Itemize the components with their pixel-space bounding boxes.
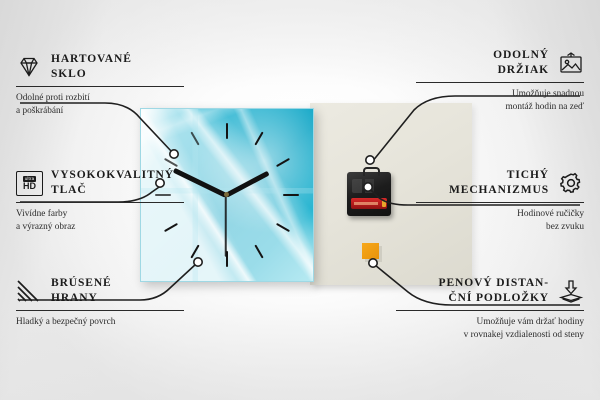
- callout-title-line2: TLAČ: [51, 183, 174, 198]
- callout-title-line1: ODOLNÝ: [493, 48, 549, 63]
- callout-description: Hladký a bezpečný povrch: [16, 316, 184, 329]
- callout-desc-line2: montáž hodin na zeď: [416, 101, 584, 114]
- clock-center-pin: [224, 192, 229, 197]
- callout-title-line2: DRŽIAK: [493, 63, 549, 78]
- callout-header: HARTOVANÉ SKLO: [16, 52, 184, 82]
- callout-description: Umožňuje snadnou montáž hodin na zeď: [416, 88, 584, 113]
- callout-header: ODOLNÝ DRŽIAK: [416, 48, 584, 78]
- callout-title: HARTOVANÉ SKLO: [51, 52, 132, 82]
- diamond-icon: [16, 55, 42, 79]
- callout-durable-hanger: ODOLNÝ DRŽIAK Umožňuje snadnou montáž ho…: [416, 48, 584, 114]
- mechanism-surface-detail: [352, 179, 386, 193]
- callout-tempered-glass: HARTOVANÉ SKLO Odolné proti rozbití a po…: [16, 52, 184, 118]
- callout-high-quality-print: ultra HD VYSOKOKVALITNÝ TLAČ Vivídne far…: [16, 168, 184, 234]
- callout-description: Umožňuje vám držať hodiny v rovnakej vzd…: [396, 316, 584, 341]
- picture-frame-icon: [558, 51, 584, 75]
- callout-title-line2: HRANY: [51, 291, 112, 306]
- callout-title-line1: BRÚSENÉ: [51, 276, 112, 291]
- callout-title-line1: PENOVÝ DISTAN-: [439, 276, 549, 291]
- callout-title-line2: ČNÍ PODLOŽKY: [439, 291, 549, 306]
- gear-icon: [558, 171, 584, 195]
- callout-header: TICHÝ MECHANIZMUS: [416, 168, 584, 198]
- callout-title-line2: SKLO: [51, 67, 132, 82]
- ultra-hd-icon: ultra HD: [16, 171, 42, 195]
- callout-title: ODOLNÝ DRŽIAK: [493, 48, 549, 78]
- clock-second-hand: [225, 195, 227, 257]
- product-infographic: HARTOVANÉ SKLO Odolné proti rozbití a po…: [0, 0, 600, 400]
- callout-divider: [416, 82, 584, 83]
- callout-title-line2: MECHANIZMUS: [449, 183, 549, 198]
- callout-title: PENOVÝ DISTAN- ČNÍ PODLOŽKY: [439, 276, 549, 306]
- callout-description: Vivídne farby a výrazný obraz: [16, 208, 184, 233]
- callout-description: Hodinové ručičky bez zvuku: [416, 208, 584, 233]
- callout-silent-mechanism: TICHÝ MECHANIZMUS Hodinové ručičky bez z…: [416, 168, 584, 234]
- callout-desc-line1: Umožňuje vám držať hodiny: [396, 316, 584, 329]
- callout-polished-edges: BRÚSENÉ HRANY Hladký a bezpečný povrch: [16, 276, 184, 329]
- battery: [351, 198, 387, 209]
- callout-title-line1: VYSOKOKVALITNÝ: [51, 168, 174, 183]
- callout-desc-line2: a poškrábání: [16, 105, 184, 118]
- callout-desc-line1: Hodinové ručičky: [416, 208, 584, 221]
- callout-title: VYSOKOKVALITNÝ TLAČ: [51, 168, 174, 198]
- diagonal-lines-icon: [16, 279, 42, 303]
- foam-spacer-pad: [362, 243, 379, 259]
- clock-mechanism: [347, 172, 391, 216]
- callout-title: BRÚSENÉ HRANY: [51, 276, 112, 306]
- callout-desc-line1: Vivídne farby: [16, 208, 184, 221]
- callout-desc-line1: Umožňuje snadnou: [416, 88, 584, 101]
- callout-header: BRÚSENÉ HRANY: [16, 276, 184, 306]
- ultra-hd-big-label: HD: [23, 182, 36, 191]
- mechanism-hanger-lug: [363, 167, 380, 176]
- callout-header: ultra HD VYSOKOKVALITNÝ TLAČ: [16, 168, 184, 198]
- clock-tick-3: [283, 194, 299, 196]
- callout-divider: [416, 202, 584, 203]
- callout-desc-line2: v rovnakej vzdialenosti od steny: [396, 329, 584, 342]
- callout-divider: [16, 310, 184, 311]
- callout-desc-line1: Hladký a bezpečný povrch: [16, 316, 184, 329]
- callout-divider: [396, 310, 584, 311]
- callout-description: Odolné proti rozbití a poškrábání: [16, 92, 184, 117]
- callout-desc-line2: a výrazný obraz: [16, 221, 184, 234]
- stacked-down-arrow-icon: [558, 279, 584, 303]
- callout-header: PENOVÝ DISTAN- ČNÍ PODLOŽKY: [396, 276, 584, 306]
- clock-tick-12: [226, 123, 228, 139]
- callout-foam-spacers: PENOVÝ DISTAN- ČNÍ PODLOŽKY Umožňuje vám…: [396, 276, 584, 342]
- battery-stripe: [354, 202, 378, 205]
- battery-terminal: [382, 200, 386, 207]
- callout-desc-line1: Odolné proti rozbití: [16, 92, 184, 105]
- callout-divider: [16, 202, 184, 203]
- callout-divider: [16, 86, 184, 87]
- callout-desc-line2: bez zvuku: [416, 221, 584, 234]
- callout-title-line1: HARTOVANÉ: [51, 52, 132, 67]
- callout-title: TICHÝ MECHANIZMUS: [449, 168, 549, 198]
- callout-title-line1: TICHÝ: [449, 168, 549, 183]
